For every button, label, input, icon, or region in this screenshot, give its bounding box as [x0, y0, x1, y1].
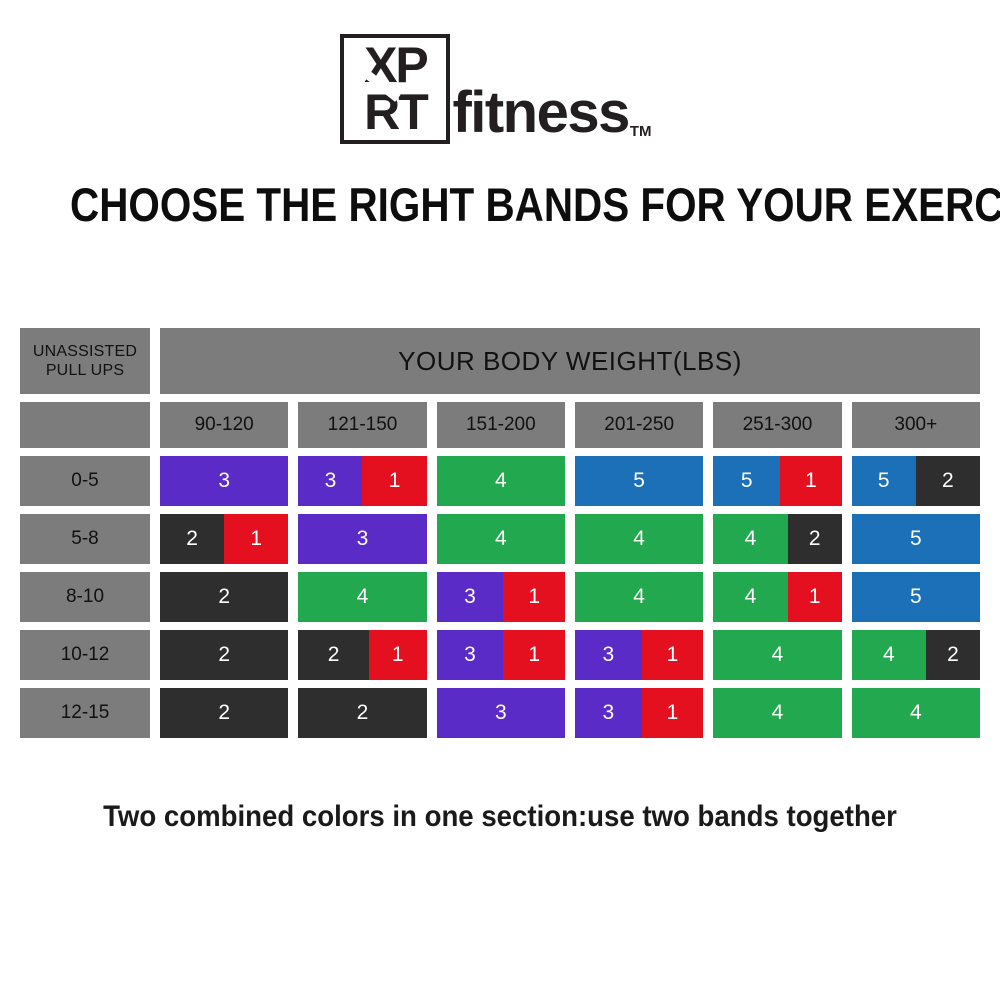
band-segment-green: 4: [713, 514, 787, 564]
band-segment-dark: 2: [788, 514, 842, 564]
row-cells: 21344425: [160, 514, 980, 564]
band-segment-green: 4: [298, 572, 426, 622]
band-segment-purple: 3: [298, 456, 362, 506]
corner-header-line2: PULL UPS: [46, 361, 124, 380]
band-segment-red: 1: [788, 572, 842, 622]
band-cell: 3: [298, 514, 426, 564]
band-segment-green: 4: [437, 514, 565, 564]
band-segment-blue: 5: [852, 456, 916, 506]
band-cell: 5: [852, 572, 980, 622]
band-cell: 52: [852, 456, 980, 506]
band-segment-dark: 2: [160, 688, 288, 738]
band-cell: 31: [437, 630, 565, 680]
trademark-symbol: TM: [630, 123, 652, 144]
band-segment-purple: 3: [298, 514, 426, 564]
band-segment-red: 1: [362, 456, 426, 506]
column-headers: 90-120121-150151-200201-250251-300300+: [160, 402, 980, 448]
band-segment-red: 1: [224, 514, 288, 564]
band-segment-blue: 5: [713, 456, 780, 506]
band-segment-red: 1: [503, 572, 565, 622]
logo-mark-bottom-text: RT: [344, 86, 446, 138]
band-cell: 31: [437, 572, 565, 622]
row-header-12-15: 12-15: [20, 688, 150, 738]
band-segment-red: 1: [642, 630, 704, 680]
band-segment-red: 1: [780, 456, 842, 506]
row-header-5-8: 5-8: [20, 514, 150, 564]
band-segment-dark: 2: [916, 456, 980, 506]
band-cell: 4: [298, 572, 426, 622]
row-cells: 2213131442: [160, 630, 980, 680]
band-cell: 5: [575, 456, 703, 506]
band-segment-blue: 5: [852, 514, 980, 564]
band-cell: 3: [160, 456, 288, 506]
band-cell: 4: [713, 630, 841, 680]
band-cell: 41: [713, 572, 841, 622]
band-segment-green: 4: [437, 456, 565, 506]
column-header-251-300: 251-300: [713, 402, 841, 448]
column-header-121-150: 121-150: [298, 402, 426, 448]
band-cell: 3: [437, 688, 565, 738]
band-segment-dark: 2: [160, 630, 288, 680]
band-cell: 2: [160, 572, 288, 622]
band-cell: 42: [713, 514, 841, 564]
bands-table: UNASSISTED PULL UPS YOUR BODY WEIGHT(LBS…: [20, 328, 980, 738]
band-segment-purple: 3: [437, 688, 565, 738]
band-cell: 31: [575, 630, 703, 680]
band-segment-green: 4: [852, 688, 980, 738]
table-body: 0-53314551525-8213444258-102431441510-12…: [20, 456, 980, 738]
table-row: 12-152233144: [20, 688, 980, 738]
band-cell: 4: [852, 688, 980, 738]
band-segment-purple: 3: [437, 630, 504, 680]
band-segment-green: 4: [575, 572, 703, 622]
band-segment-purple: 3: [160, 456, 288, 506]
band-segment-green: 4: [713, 572, 787, 622]
column-header-300+: 300+: [852, 402, 980, 448]
band-cell: 4: [713, 688, 841, 738]
brand-logo: XP RT fitness TM: [0, 0, 1000, 144]
column-header-90-120: 90-120: [160, 402, 288, 448]
legend-note: Two combined colors in one section:use t…: [40, 800, 960, 834]
band-cell: 51: [713, 456, 841, 506]
band-segment-green: 4: [852, 630, 926, 680]
band-segment-blue: 5: [852, 572, 980, 622]
table-row: 5-821344425: [20, 514, 980, 564]
xprt-logo-mark-icon: XP RT: [340, 34, 450, 144]
row-cells: 331455152: [160, 456, 980, 506]
band-segment-purple: 3: [575, 630, 642, 680]
band-cell: 5: [852, 514, 980, 564]
table-column-header-row: 90-120121-150151-200201-250251-300300+: [20, 402, 980, 448]
band-chart-page: XP RT fitness TM CHOOSE THE RIGHT BANDS …: [0, 0, 1000, 1000]
band-segment-dark: 2: [160, 514, 224, 564]
row-header-10-12: 10-12: [20, 630, 150, 680]
band-segment-green: 4: [575, 514, 703, 564]
table-row: 10-122213131442: [20, 630, 980, 680]
table-header-row: UNASSISTED PULL UPS YOUR BODY WEIGHT(LBS…: [20, 328, 980, 394]
band-cell: 4: [437, 514, 565, 564]
corner-header-line1: UNASSISTED: [33, 342, 137, 361]
band-segment-blue: 5: [575, 456, 703, 506]
row-header-0-5: 0-5: [20, 456, 150, 506]
band-cell: 2: [160, 630, 288, 680]
band-segment-purple: 3: [575, 688, 642, 738]
band-segment-red: 1: [369, 630, 427, 680]
band-segment-dark: 2: [160, 572, 288, 622]
band-cell: 4: [437, 456, 565, 506]
band-cell: 2: [298, 688, 426, 738]
column-header-151-200: 151-200: [437, 402, 565, 448]
band-segment-dark: 2: [926, 630, 980, 680]
column-header-201-250: 201-250: [575, 402, 703, 448]
band-segment-purple: 3: [437, 572, 504, 622]
band-cell: 42: [852, 630, 980, 680]
body-weight-header: YOUR BODY WEIGHT(LBS): [160, 328, 980, 394]
band-cell: 31: [575, 688, 703, 738]
column-header-blank-cell: [20, 402, 150, 448]
band-cell: 4: [575, 514, 703, 564]
page-title: CHOOSE THE RIGHT BANDS FOR YOUR EXERCISE: [70, 180, 930, 230]
band-segment-dark: 2: [298, 630, 369, 680]
band-cell: 21: [298, 630, 426, 680]
band-segment-red: 1: [642, 688, 704, 738]
row-header-8-10: 8-10: [20, 572, 150, 622]
band-segment-green: 4: [713, 630, 841, 680]
logo-inner: XP RT fitness TM: [340, 34, 651, 144]
band-segment-dark: 2: [298, 688, 426, 738]
row-cells: 24314415: [160, 572, 980, 622]
band-cell: 4: [575, 572, 703, 622]
band-cell: 31: [298, 456, 426, 506]
band-segment-red: 1: [503, 630, 565, 680]
row-cells: 2233144: [160, 688, 980, 738]
logo-wordmark: fitness: [452, 84, 628, 144]
corner-header-cell: UNASSISTED PULL UPS: [20, 328, 150, 394]
band-cell: 2: [160, 688, 288, 738]
table-row: 0-5331455152: [20, 456, 980, 506]
band-segment-green: 4: [713, 688, 841, 738]
band-cell: 21: [160, 514, 288, 564]
table-row: 8-1024314415: [20, 572, 980, 622]
